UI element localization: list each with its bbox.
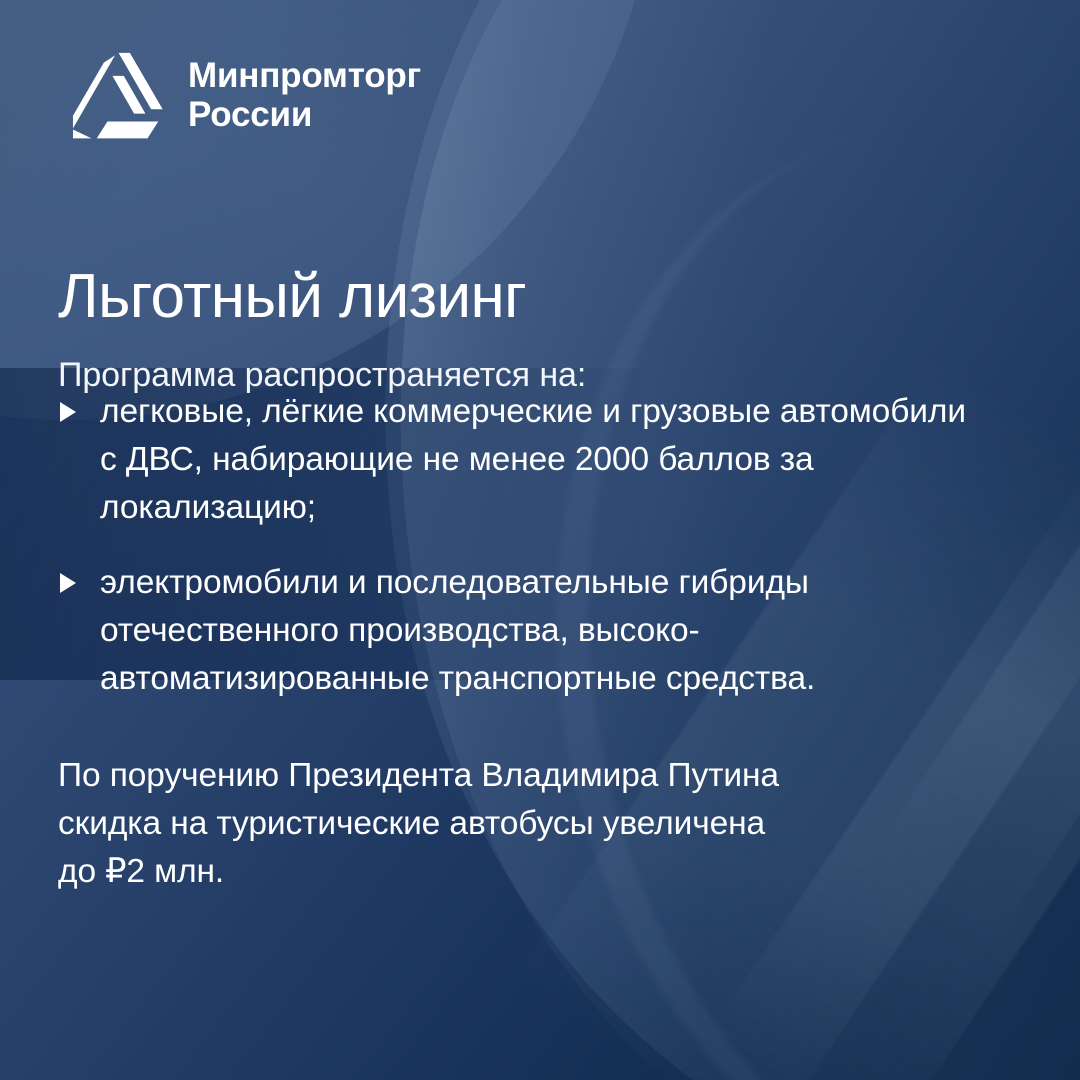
closing-note: По поручению Президента Владимира Путина… (58, 752, 958, 897)
brand-wordmark: Минпромторг России (188, 56, 421, 136)
brand-lockup: Минпромторг России (70, 50, 421, 142)
card-content: Минпромторг России Льготный лизинг Прогр… (0, 0, 1080, 1080)
list-item-text: легковые, лёгкие коммерческие и грузовые… (100, 388, 988, 533)
infographic-card: Минпромторг России Льготный лизинг Прогр… (0, 0, 1080, 1080)
list-item: легковые, лёгкие коммерческие и грузовые… (58, 388, 988, 533)
minpromtorg-triangle-icon (70, 50, 166, 142)
eligibility-list: легковые, лёгкие коммерческие и грузовые… (58, 388, 988, 703)
list-item-text: электромобили и последовательные гибриды… (100, 559, 988, 704)
triangle-right-bullet-icon (58, 400, 78, 424)
triangle-right-bullet-icon (58, 571, 78, 595)
list-item: электромобили и последовательные гибриды… (58, 559, 988, 704)
page-title: Льготный лизинг (58, 265, 526, 329)
